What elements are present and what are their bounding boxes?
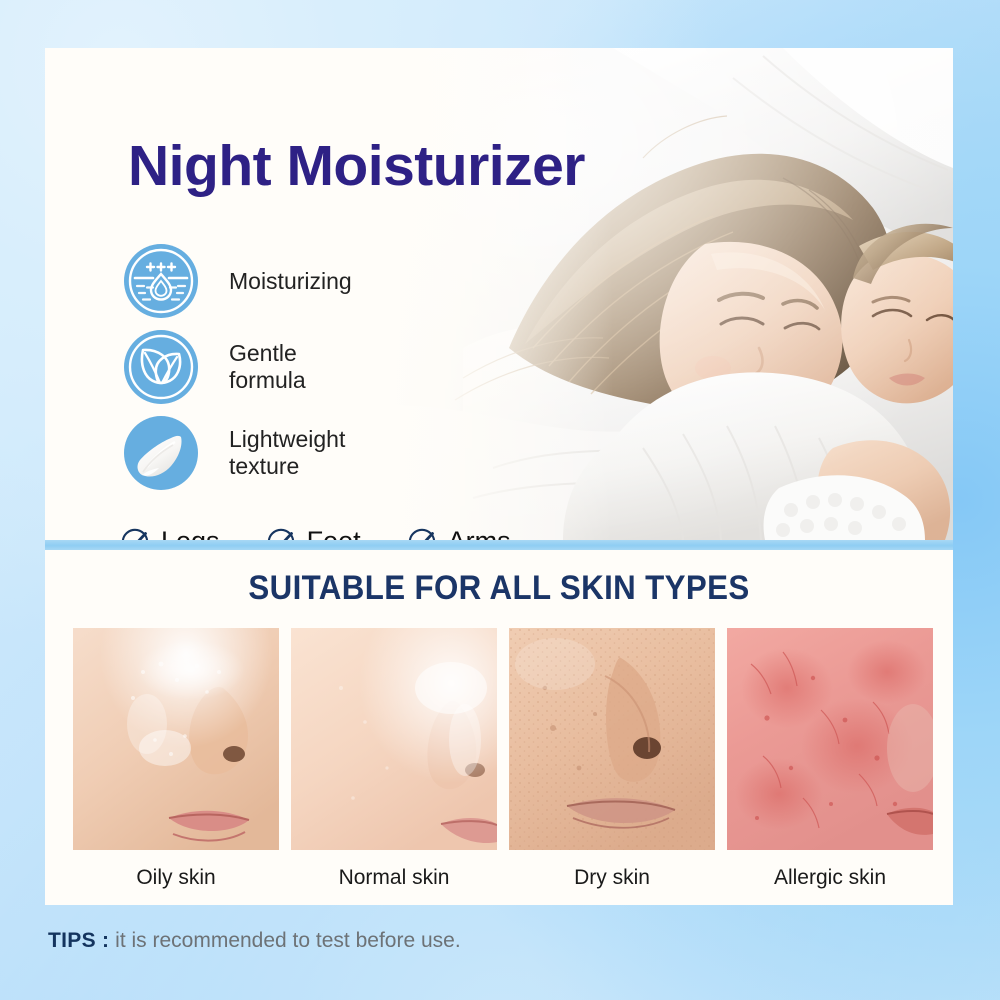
feature-label: Lightweighttexture xyxy=(229,426,345,480)
dry-skin-closeup-photo xyxy=(509,628,715,850)
skin-type-thumbnails: Oily skin xyxy=(73,628,933,890)
hero-card: Night Moisturizer xyxy=(45,48,953,540)
skin-types-card: SUITABLE FOR ALL SKIN TYPES xyxy=(45,550,953,905)
tips-text: it is recommended to test before use. xyxy=(115,929,461,952)
section-title: SUITABLE FOR ALL SKIN TYPES xyxy=(81,569,916,608)
body-area-check-list: Legs Feet Arms xyxy=(120,526,557,540)
skin-type-item: Allergic skin xyxy=(727,628,933,890)
allergic-skin-closeup-photo xyxy=(727,628,933,850)
skin-type-label: Normal skin xyxy=(291,866,497,890)
hero-photo xyxy=(313,48,953,540)
feature-item: Moisturizing xyxy=(123,238,352,324)
feature-label: Moisturizing xyxy=(229,268,352,295)
photo-fade-overlay xyxy=(313,48,613,540)
feature-item: Lightweighttexture xyxy=(123,410,352,496)
feature-item: Gentleformula xyxy=(123,324,352,410)
check-item: Legs xyxy=(120,526,220,540)
check-label: Legs xyxy=(161,526,220,540)
skin-type-label: Allergic skin xyxy=(727,866,933,890)
normal-skin-closeup-photo xyxy=(291,628,497,850)
infographic-page: Night Moisturizer xyxy=(0,0,1000,1000)
skin-type-label: Oily skin xyxy=(73,866,279,890)
cream-swatch-icon xyxy=(123,415,199,491)
check-item: Feet xyxy=(266,526,361,540)
check-circle-icon xyxy=(407,527,437,541)
check-circle-icon xyxy=(120,527,150,541)
check-circle-icon xyxy=(266,527,296,541)
skin-type-item: Oily skin xyxy=(73,628,279,890)
check-label: Arms xyxy=(448,526,511,540)
check-item: Arms xyxy=(407,526,511,540)
hydration-drop-icon xyxy=(123,243,199,319)
tips-label: TIPS : xyxy=(48,929,109,952)
feature-label: Gentleformula xyxy=(229,340,306,394)
skin-type-item: Normal skin xyxy=(291,628,497,890)
skin-type-item: Dry skin xyxy=(509,628,715,890)
leaf-icon xyxy=(123,329,199,405)
section-divider xyxy=(45,540,953,550)
page-title: Night Moisturizer xyxy=(128,133,585,199)
skin-type-label: Dry skin xyxy=(509,866,715,890)
tips-line: TIPS : it is recommended to test before … xyxy=(48,930,461,951)
feature-list: Moisturizing Gentleformula xyxy=(123,238,352,496)
check-label: Feet xyxy=(307,526,361,540)
oily-skin-closeup-photo xyxy=(73,628,279,850)
